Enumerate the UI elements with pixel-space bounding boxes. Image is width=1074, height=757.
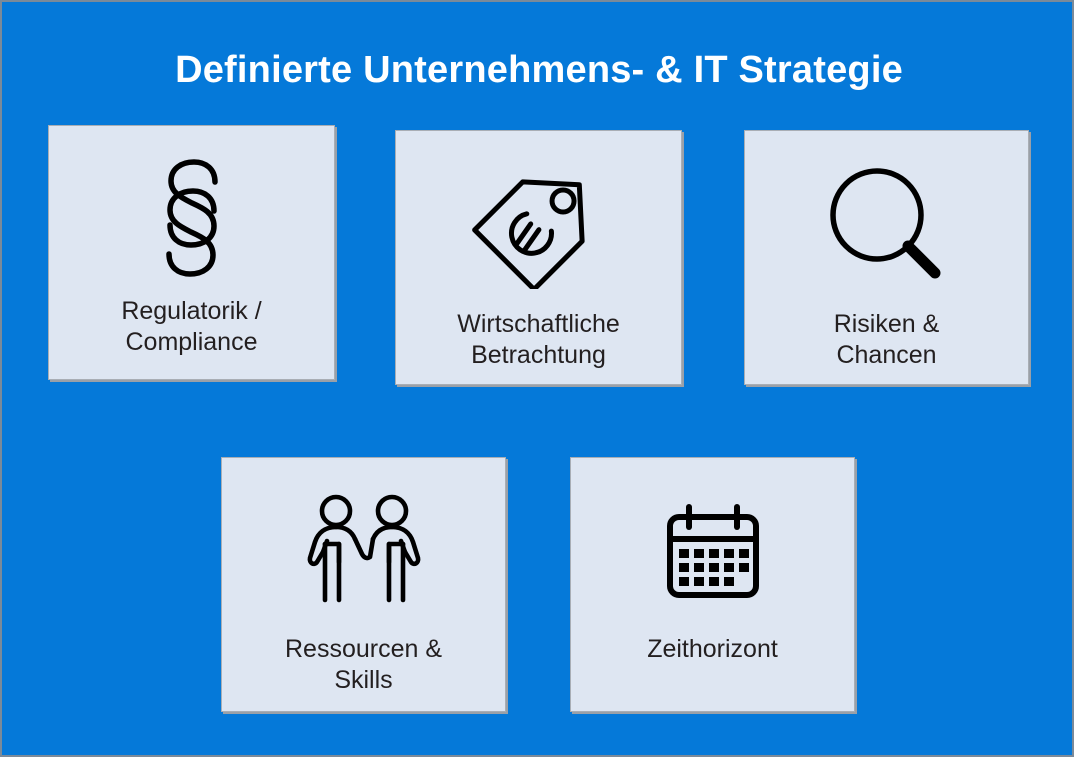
card-label: Ressourcen & Skills bbox=[222, 634, 505, 696]
section-symbol-icon bbox=[159, 154, 225, 282]
card-regulatorik[interactable]: Regulatorik / Compliance bbox=[48, 125, 335, 380]
slide-canvas: Definierte Unternehmens- & IT Strategie … bbox=[0, 0, 1074, 757]
card-label: Regulatorik / Compliance bbox=[49, 296, 334, 358]
card-label: Wirtschaftliche Betrachtung bbox=[396, 309, 681, 371]
card-label: Zeithorizont bbox=[571, 634, 854, 665]
card-risiken[interactable]: Risiken & Chancen bbox=[744, 130, 1029, 385]
card-ressourcen[interactable]: Ressourcen & Skills bbox=[221, 457, 506, 712]
calendar-icon bbox=[661, 490, 765, 612]
magnifier-icon bbox=[825, 161, 949, 289]
price-tag-euro-icon bbox=[469, 161, 609, 289]
card-label: Risiken & Chancen bbox=[745, 309, 1028, 371]
card-wirtschaftlich[interactable]: Wirtschaftliche Betrachtung bbox=[395, 130, 682, 385]
card-zeithorizont[interactable]: Zeithorizont bbox=[570, 457, 855, 712]
page-title: Definierte Unternehmens- & IT Strategie bbox=[2, 47, 1074, 93]
handshake-people-icon bbox=[305, 490, 423, 612]
